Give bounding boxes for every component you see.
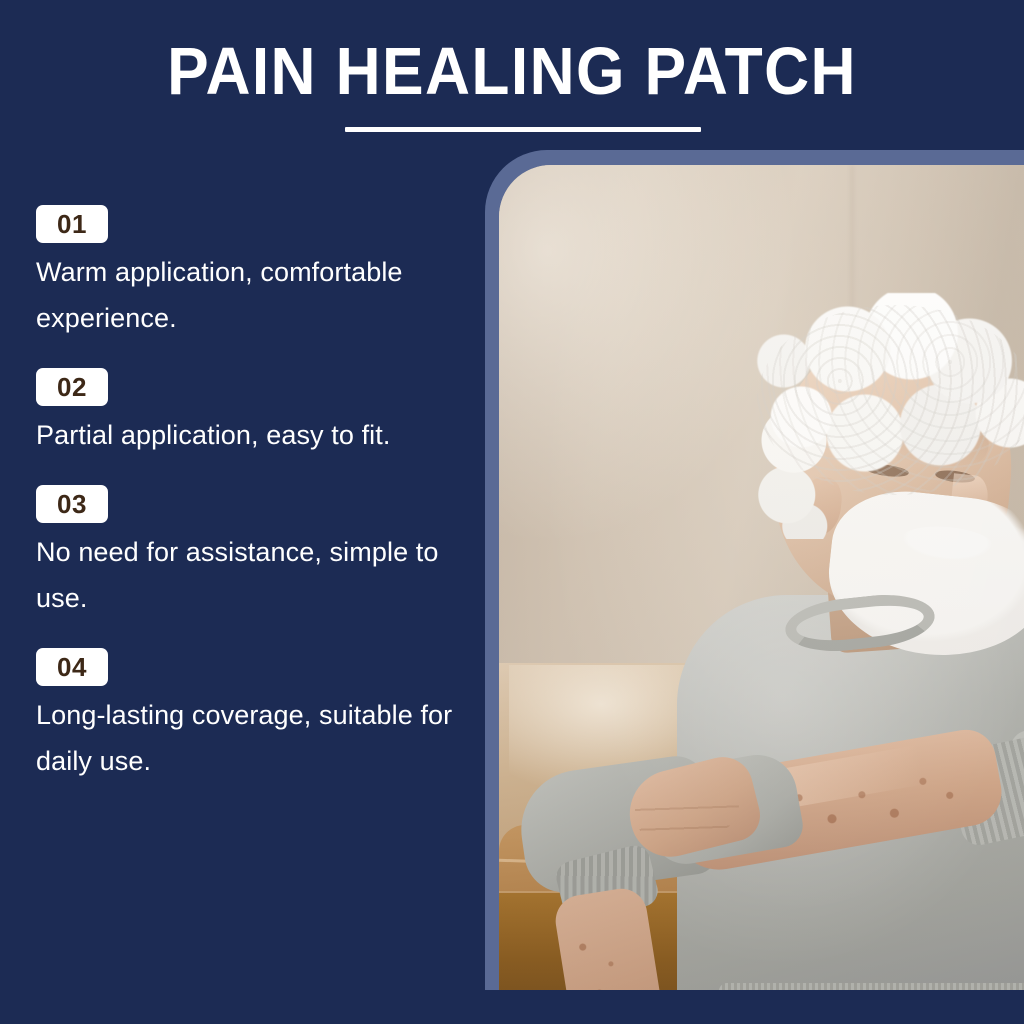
feature-item-02: 02 Partial application, easy to fit. <box>36 368 486 458</box>
feature-text: Warm application, comfortable experience… <box>36 249 476 341</box>
feature-text: Long-lasting coverage, suitable for dail… <box>36 692 476 784</box>
person-hair-texture <box>757 305 1024 495</box>
sweater-hem <box>719 983 1024 990</box>
product-photo <box>499 165 1024 990</box>
feature-item-03: 03 No need for assistance, simple to use… <box>36 485 486 621</box>
page-title: PAIN HEALING PATCH <box>36 38 988 105</box>
feature-list: 01 Warm application, comfortable experie… <box>36 205 486 784</box>
feature-number-badge: 03 <box>36 485 108 523</box>
feature-item-01: 01 Warm application, comfortable experie… <box>36 205 486 341</box>
feature-item-04: 04 Long-lasting coverage, suitable for d… <box>36 648 486 784</box>
feature-text: No need for assistance, simple to use. <box>36 529 476 621</box>
feature-number-badge: 04 <box>36 648 108 686</box>
poster-canvas: PAIN HEALING PATCH 01 Warm application, … <box>0 0 1024 1024</box>
title-underline <box>345 127 701 132</box>
feature-text: Partial application, easy to fit. <box>36 412 476 458</box>
feature-number-badge: 01 <box>36 205 108 243</box>
poster-header: PAIN HEALING PATCH <box>0 0 1024 165</box>
feature-number-badge: 02 <box>36 368 108 406</box>
